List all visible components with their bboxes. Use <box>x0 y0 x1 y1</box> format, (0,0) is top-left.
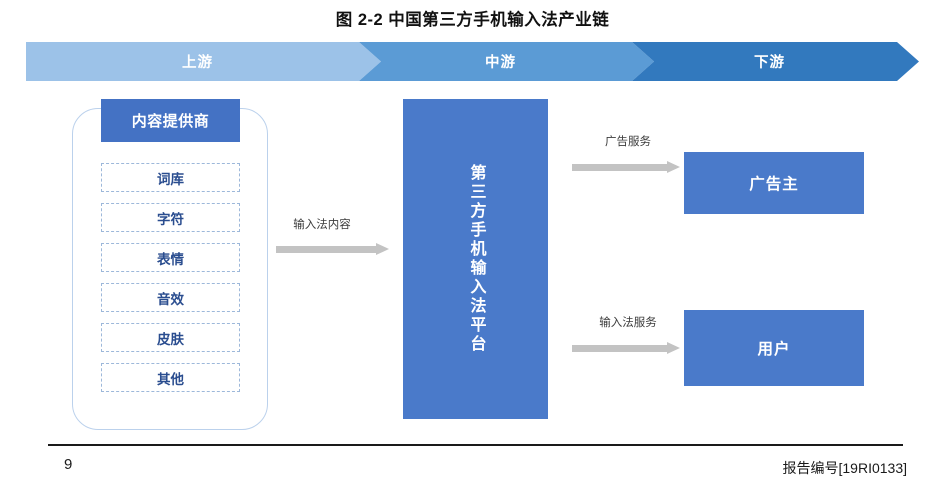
figure-title: 图 2-2 中国第三方手机输入法产业链 <box>0 6 945 30</box>
arrow-body <box>572 345 667 352</box>
arrow-head-icon <box>376 243 389 255</box>
user-label: 用户 <box>757 337 790 359</box>
content-provider-item-other: 其他 <box>101 363 240 392</box>
content-provider-item-list: 词库 字符 表情 音效 皮肤 其他 <box>101 163 240 403</box>
content-provider-item-characters: 字符 <box>101 203 240 232</box>
arrow-head-icon <box>667 342 680 354</box>
item-label: 表情 <box>157 248 184 268</box>
content-provider-header: 内容提供商 <box>101 99 240 142</box>
arrow-body <box>276 246 376 253</box>
platform-label: 第三方手机输入法平台 <box>468 164 484 354</box>
content-provider-item-skin: 皮肤 <box>101 323 240 352</box>
content-provider-header-label: 内容提供商 <box>132 110 210 131</box>
input-method-platform-box: 第三方手机输入法平台 <box>403 99 548 419</box>
advertiser-box: 广告主 <box>684 152 864 214</box>
value-chain-stage-upstream: 上游 <box>26 42 381 81</box>
item-label: 音效 <box>157 288 184 308</box>
flow-arrow-upstream-to-platform <box>276 243 389 256</box>
content-provider-item-emoji: 表情 <box>101 243 240 272</box>
flow-label-input-method-content: 输入法内容 <box>262 216 382 232</box>
arrow-body <box>572 164 667 171</box>
item-label: 其他 <box>157 368 184 388</box>
flow-label-input-method-service: 输入法服务 <box>568 314 688 330</box>
flow-label-advertising-service: 广告服务 <box>568 133 688 149</box>
value-chain-stage-downstream: 下游 <box>632 42 919 81</box>
flow-arrow-platform-to-user <box>572 342 680 355</box>
stage-label-upstream: 上游 <box>182 51 213 72</box>
item-label: 词库 <box>157 168 184 188</box>
stage-label-downstream: 下游 <box>754 51 785 72</box>
report-id: 报告编号[19RI0133] <box>783 458 908 478</box>
item-label: 字符 <box>157 208 184 228</box>
content-provider-item-sound: 音效 <box>101 283 240 312</box>
page-number: 9 <box>64 456 72 473</box>
arrow-head-icon <box>667 161 680 173</box>
item-label: 皮肤 <box>157 328 184 348</box>
content-provider-item-lexicon: 词库 <box>101 163 240 192</box>
value-chain-stage-midstream: 中游 <box>359 42 654 81</box>
flow-arrow-platform-to-advertiser <box>572 161 680 174</box>
footer-divider <box>48 444 903 446</box>
user-box: 用户 <box>684 310 864 386</box>
value-chain-band: 上游 中游 下游 <box>26 42 919 81</box>
advertiser-label: 广告主 <box>749 172 799 194</box>
stage-label-midstream: 中游 <box>485 51 516 72</box>
